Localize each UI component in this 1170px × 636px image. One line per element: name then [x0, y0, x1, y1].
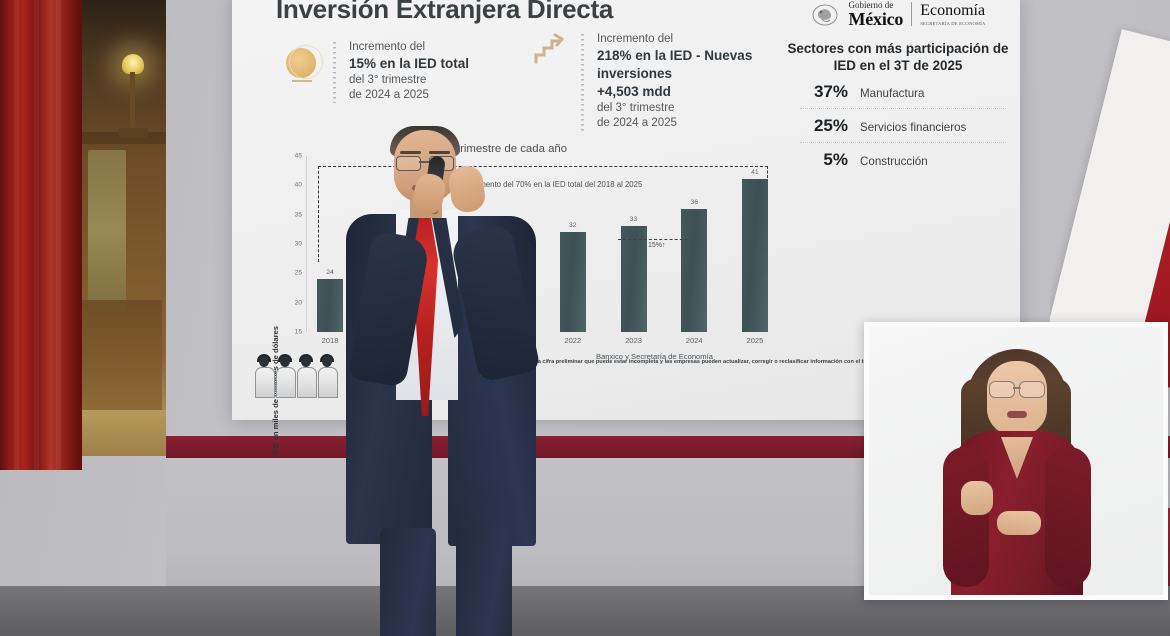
kpi1-line1: Incremento del [349, 40, 469, 55]
chart-bar [560, 232, 586, 332]
presentation-stage: Inversión Extranjera Directa Incremento … [0, 0, 1170, 636]
chart-ytick: 45 [295, 153, 302, 160]
eyebrows [400, 151, 450, 154]
sun-coin-icon [284, 40, 322, 92]
kpi1-line4: de 2024 a 2025 [349, 88, 469, 103]
annotation-growth-yoy: 15%↑ [648, 242, 666, 249]
interpreter-arm-right [1045, 447, 1091, 587]
hand-right [447, 164, 487, 214]
chart-bar-value: 33 [630, 216, 638, 223]
lamp-base [118, 128, 148, 138]
door-lower-panel [82, 300, 162, 410]
secretary-subtitle: SECRETARÍA DE ECONOMÍA [920, 21, 985, 26]
sector-pct: 25% [802, 116, 848, 136]
red-curtain [0, 0, 82, 470]
sector-name: Construcción [860, 155, 928, 168]
kpi-block-nuevas-inversiones: Incremento del 218% en la IED - Nuevas i… [532, 32, 757, 131]
kpi1-highlight: 15% en la IED total [349, 55, 469, 73]
gob-big-text: México [848, 10, 903, 28]
annotation-bracket-right [767, 166, 768, 178]
sector-pct: 37% [802, 82, 848, 102]
kpi2-line4: de 2024 a 2025 [597, 116, 757, 131]
interpreter-arm-left [943, 447, 989, 587]
chart-bar [742, 179, 768, 332]
chart-bar-group: 36 [681, 156, 707, 332]
sectors-title: Sectores con más participación de IED en… [784, 40, 1012, 75]
chart-yticks: 15202530354045 [282, 156, 304, 328]
interpreter-lips [1007, 411, 1027, 418]
sector-row: 25% Servicios financieros [784, 109, 1012, 142]
kpi1-line3: del 3° trimestre [349, 73, 469, 88]
annotation-connector [618, 239, 688, 240]
door-floor-light [82, 410, 166, 456]
chart-bar-group: 24 [317, 156, 343, 332]
chart-bar [681, 209, 707, 332]
mexican-eagle-icon [810, 0, 840, 29]
chart-ytick: 40 [295, 182, 302, 189]
lamp-stem [130, 72, 135, 132]
dotted-divider [333, 42, 336, 103]
secretary-brand: Economía SECRETARÍA DE ECONOMÍA [920, 2, 985, 26]
stairs-arrow-icon [532, 32, 570, 84]
sector-pct: 5% [802, 150, 848, 170]
chart-ytick: 15 [295, 329, 302, 336]
secretary-name: Economía [920, 2, 985, 19]
chart-ytick: 25 [295, 270, 302, 277]
sign-language-inset [864, 322, 1168, 600]
chart-bar-group: 41 [742, 156, 768, 332]
sectors-panel: Gobierno de México Economía SECRETARÍA D… [784, 0, 1012, 176]
legs [372, 528, 520, 636]
chart-bar [317, 279, 343, 332]
kpi2-line3: del 3° trimestre [597, 101, 757, 116]
kpi2-highlight2: +4,503 mdd [597, 83, 757, 101]
sector-row: 37% Manufactura [784, 75, 1012, 108]
page-title: Inversión Extranjera Directa [276, 0, 613, 25]
sector-name: Servicios financieros [860, 121, 966, 134]
interpreter-glasses-icon [989, 381, 1045, 396]
chart-bar-value: 32 [569, 222, 577, 229]
chart-xtick: 2025 [742, 336, 768, 350]
chart-bar-value: 41 [751, 169, 759, 176]
sector-name: Manufactura [860, 87, 924, 100]
chart-ytick: 35 [295, 211, 302, 218]
interpreter-face [987, 361, 1047, 435]
chart-bar-value: 24 [326, 269, 334, 276]
chart-bar [621, 226, 647, 332]
interpreter-hand-left [961, 481, 993, 515]
brand-divider [911, 2, 912, 26]
lamp-icon [122, 54, 144, 74]
glasses-icon [396, 156, 454, 169]
chart-xtick: 2024 [681, 336, 707, 350]
chart-xtick: 2023 [621, 336, 647, 350]
sector-row: 5% Construcción [784, 143, 1012, 176]
kpi2-line1: Incremento del [597, 32, 757, 47]
chart-xtick: 2022 [560, 336, 586, 350]
chart-ylabel: IED en miles de millones de dólares [264, 154, 278, 326]
annotation-bracket-left [318, 166, 319, 262]
government-branding: Gobierno de México Economía SECRETARÍA D… [784, 0, 1012, 34]
speaker-figure [352, 130, 542, 600]
interpreter-hand-right [997, 511, 1041, 535]
chart-ytick: 30 [295, 241, 302, 248]
door-panel [88, 150, 126, 310]
kpi-block-ied-total: Incremento del 15% en la IED total del 3… [284, 40, 469, 103]
chart-bar-value: 36 [690, 199, 698, 206]
kpi2-highlight: 218% en la IED - Nuevas inversiones [597, 47, 757, 83]
indigenous-women-illustration [254, 352, 340, 396]
chart-ytick: 20 [295, 299, 302, 306]
